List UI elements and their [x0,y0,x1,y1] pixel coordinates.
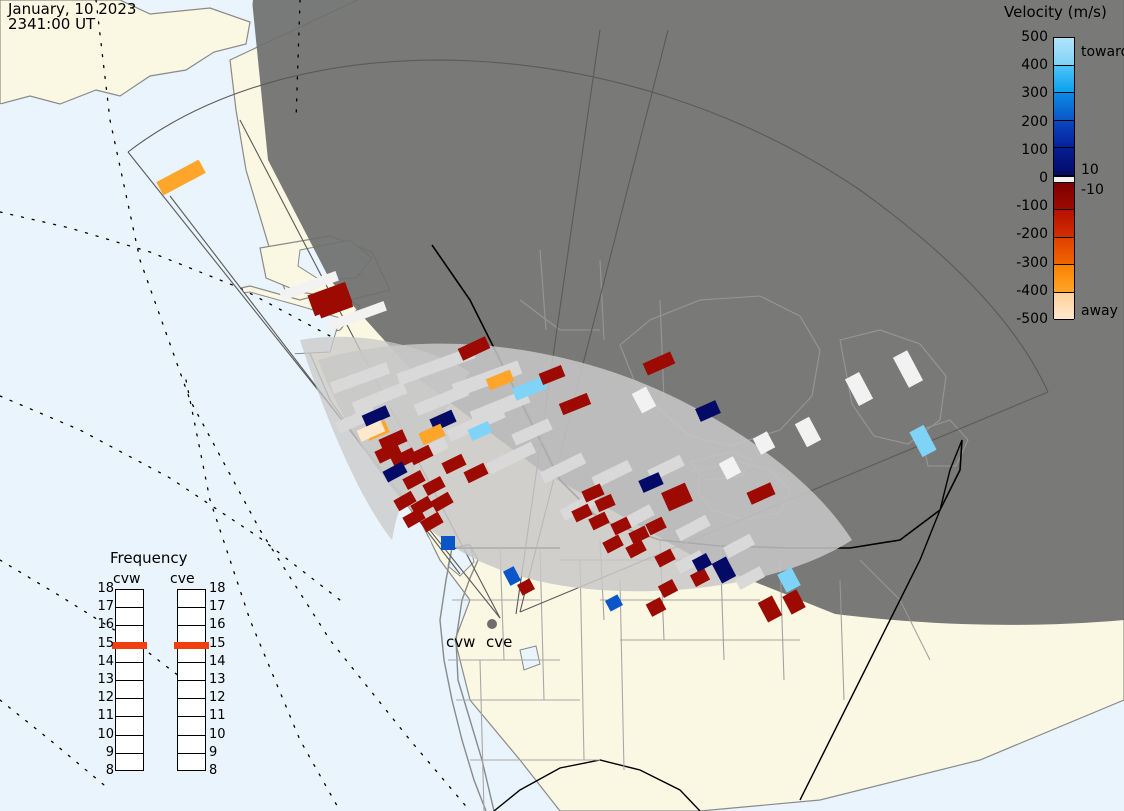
frequency-tick-label: 12 [88,690,114,705]
frequency-tick-label: 14 [88,654,114,669]
frequency-tick-label: 15 [88,636,114,651]
frequency-bar-gridline [116,625,143,626]
colorbar-band [1054,148,1074,176]
frequency-tick-label: 10 [88,727,114,742]
frequency-tick-label: 8 [88,763,114,778]
frequency-bar-gridline [178,698,205,699]
colorbar-band [1054,93,1074,121]
frequency-bar-gridline [116,716,143,717]
timestamp-block: January, 10 20232341:00 UT [8,2,136,32]
frequency-marker [174,642,209,649]
colorbar-tick-label: -400 [1000,283,1048,299]
colorbar-band [1054,38,1074,66]
colorbar-band [1054,66,1074,94]
frequency-tick-label: 10 [209,727,235,742]
frequency-bar-gridline [116,607,143,608]
colorbar-band [1054,183,1074,211]
velocity-colorbar[interactable] [1053,37,1075,319]
frequency-tick-label: 17 [88,599,114,614]
frequency-tick-label: 13 [209,672,235,687]
colorbar-tick-label: 0 [1000,170,1048,186]
colorbar-tick-label: 400 [1000,57,1048,73]
colorbar-tick-label: -200 [1000,226,1048,242]
frequency-bar-gridline [178,735,205,736]
colorbar-tick-label: 300 [1000,85,1048,101]
frequency-bar-gridline [178,716,205,717]
colorbar-toward-label: toward [1081,44,1124,60]
frequency-tick-label: 11 [209,708,235,723]
frequency-marker [112,642,147,649]
frequency-bar-gridline [178,680,205,681]
colorbar-tick-label: -500 [1000,311,1048,327]
colorbar-tick-label: 200 [1000,114,1048,130]
velocity-cell[interactable] [441,536,455,550]
frequency-bar-gridline [116,735,143,736]
frequency-bar-gridline [178,753,205,754]
time-label: 2341:00 UT [8,15,95,33]
frequency-bar-gridline [116,698,143,699]
frequency-tick-label: 16 [209,617,235,632]
frequency-bar-gridline [178,607,205,608]
site-label-cvw: cvw [446,633,475,651]
frequency-tick-label: 12 [209,690,235,705]
colorbar-tick-label: -300 [1000,255,1048,271]
frequency-bar-gridline [116,680,143,681]
frequency-bar-gridline [116,753,143,754]
colorbar-band [1054,265,1074,293]
frequency-tick-label: 16 [88,617,114,632]
frequency-bar-gridline [178,625,205,626]
frequency-bar-label-cve: cve [170,571,195,587]
site-label-cve: cve [486,633,512,651]
colorbar-ground-scatter-band [1054,176,1074,183]
frequency-bar-cve[interactable] [177,589,206,771]
frequency-tick-label: 11 [88,708,114,723]
frequency-bar-gridline [116,662,143,663]
frequency-title: Frequency [110,549,188,567]
radar-site-marker[interactable] [487,619,497,629]
colorbar-title: Velocity (m/s) [1004,3,1107,21]
colorbar-band [1054,293,1074,321]
colorbar-band [1054,210,1074,238]
map-canvas [0,0,1124,811]
frequency-tick-label: 17 [209,599,235,614]
colorbar-tick-label: 500 [1000,29,1048,45]
colorbar-band [1054,238,1074,266]
frequency-tick-label: 8 [209,763,235,778]
frequency-bar-gridline [178,662,205,663]
frequency-tick-label: 18 [209,581,235,596]
colorbar-gnd-lower-label: -10 [1081,182,1104,198]
frequency-tick-label: 13 [88,672,114,687]
colorbar-tick-label: 100 [1000,142,1048,158]
frequency-tick-label: 9 [88,745,114,760]
colorbar-away-label: away [1081,303,1118,319]
frequency-tick-label: 18 [88,581,114,596]
frequency-bar-cvw[interactable] [115,589,144,771]
frequency-tick-label: 15 [209,636,235,651]
colorbar-band [1054,121,1074,149]
frequency-tick-label: 9 [209,745,235,760]
frequency-bar-label-cvw: cvw [113,571,140,587]
colorbar-tick-label: -100 [1000,198,1048,214]
colorbar-gnd-upper-label: 10 [1081,162,1099,178]
superdarn-fan-plot: January, 10 20232341:00 UT cvw cve Veloc… [0,0,1124,811]
frequency-tick-label: 14 [209,654,235,669]
